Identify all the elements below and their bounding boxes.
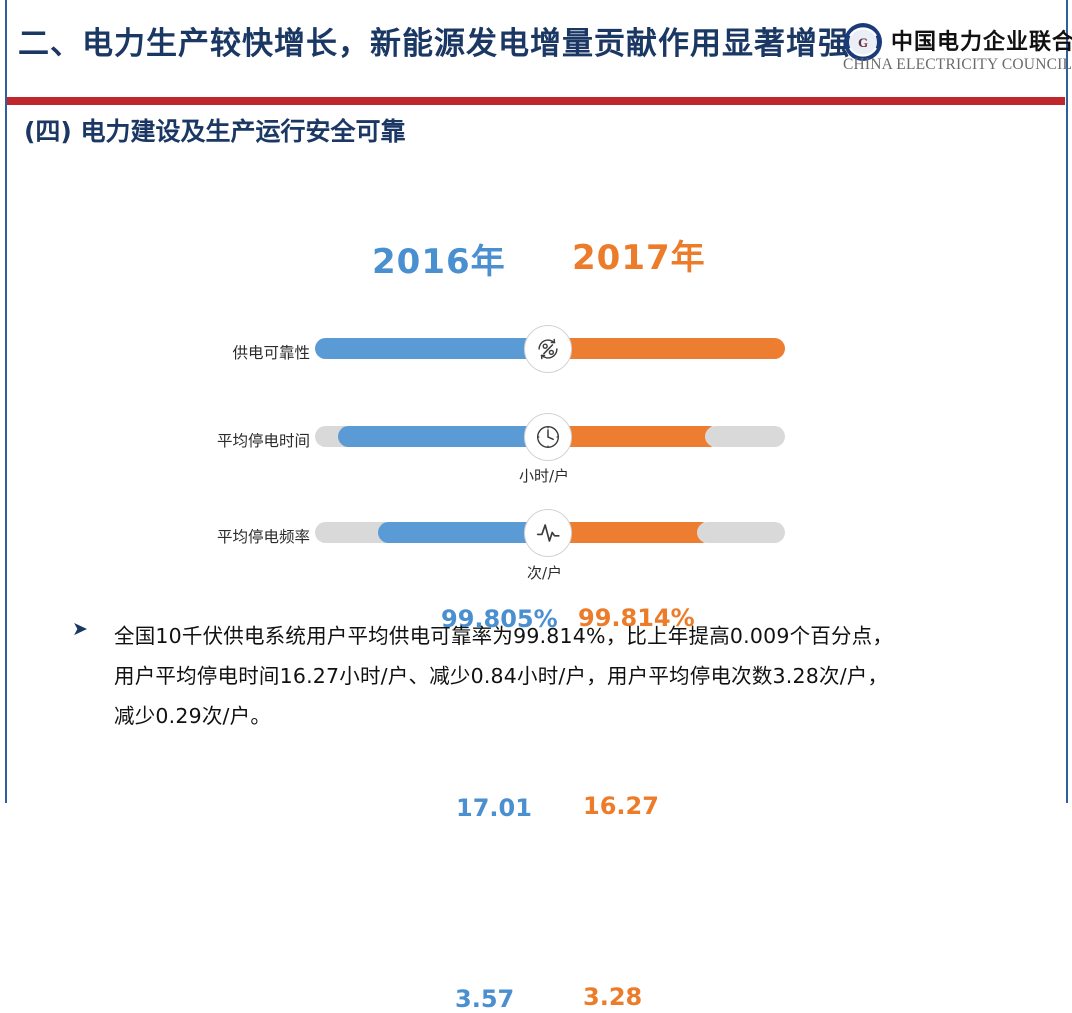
pulse-icon: [524, 509, 572, 557]
chart-row: 平均停电频率 3.57 3.28 次/户: [0, 490, 1072, 580]
bullet-icon: ➤: [72, 620, 88, 639]
note-line-2: 用户平均停电时间16.27小时/户、减少0.84小时/户，用户平均停电次数3.2…: [114, 656, 1052, 696]
row-label-reliability: 供电可靠性: [232, 341, 310, 363]
summary-note: ➤ 全国10千伏供电系统用户平均供电可靠率为99.814%，比上年提高0.009…: [72, 616, 1052, 736]
row-value-right: 16.27: [583, 792, 659, 820]
bar-track-right: [705, 426, 785, 447]
note-line-1: 全国10千伏供电系统用户平均供电可靠率为99.814%，比上年提高0.009个百…: [114, 616, 1052, 656]
row-label-outage-frequency: 平均停电频率: [217, 525, 310, 547]
row-unit: 小时/户: [519, 465, 569, 486]
row-value-left: 17.01: [456, 794, 532, 822]
bar-track-right: [697, 522, 785, 543]
bar-segment-2016: [315, 338, 550, 359]
note-line-3: 减少0.29次/户。: [114, 696, 1052, 736]
bar-segment-2017: [550, 426, 720, 447]
bar-segment-2016: [338, 426, 550, 447]
percent-refresh-icon: [524, 325, 572, 373]
row-value-left: 3.57: [455, 985, 514, 1013]
row-unit: 次/户: [527, 562, 562, 583]
clock-icon: [524, 413, 572, 461]
summary-note-text: 全国10千伏供电系统用户平均供电可靠率为99.814%，比上年提高0.009个百…: [114, 616, 1052, 736]
row-value-right: 3.28: [583, 983, 642, 1011]
chart-row: 供电可靠性 99.805% 99.814%: [0, 300, 1072, 390]
bar-segment-2017: [550, 522, 712, 543]
bar-segment-2017: [550, 338, 785, 359]
row-label-outage-duration: 平均停电时间: [217, 429, 310, 451]
chart-row: 平均停电时间 17.01 16.27: [0, 395, 1072, 485]
slide-root: 二、电力生产较快增长，新能源发电增量贡献作用显著增强 C G 中国电力企业联合会…: [0, 0, 1072, 803]
